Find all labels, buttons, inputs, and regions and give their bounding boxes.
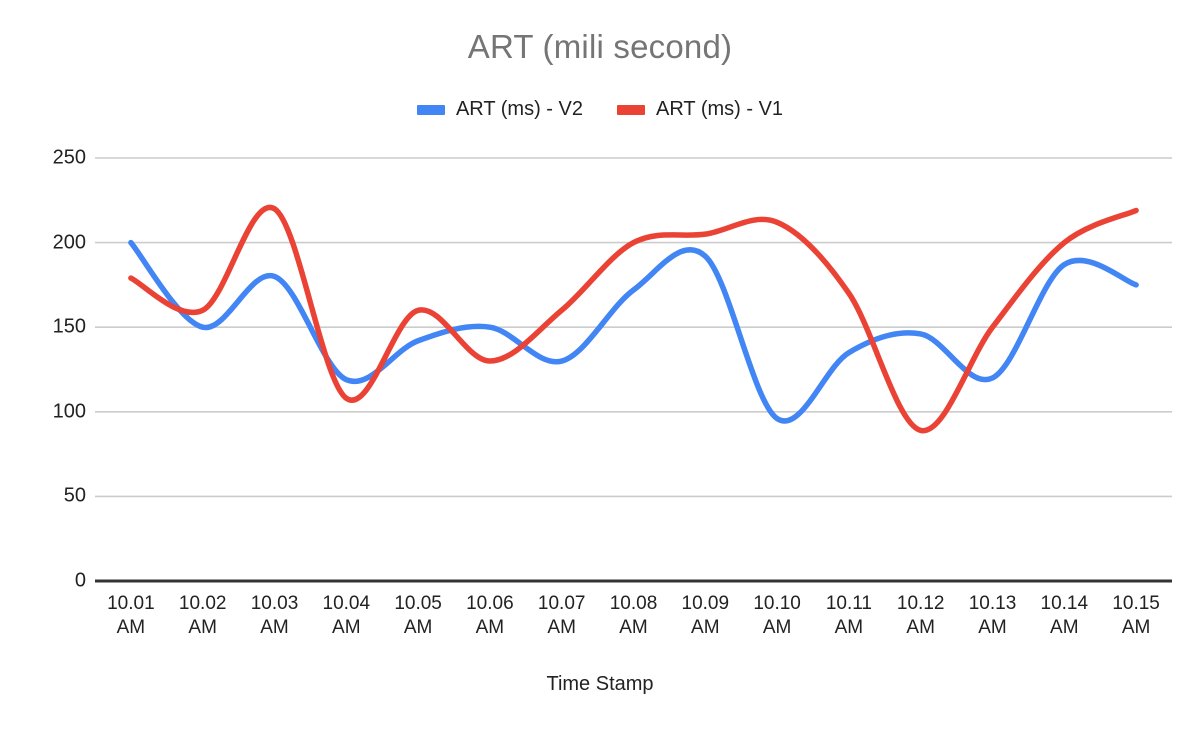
x-axis-tick-label: 10.02AM — [179, 592, 227, 640]
x-tick-time: 10.14 — [1041, 593, 1089, 614]
x-tick-meridiem: AM — [763, 617, 792, 638]
x-axis-tick-label: 10.08AM — [610, 592, 658, 640]
x-axis-tick-label: 10.11AM — [826, 592, 872, 640]
x-tick-time: 10.02 — [179, 593, 227, 614]
x-tick-meridiem: AM — [547, 617, 576, 638]
x-tick-time: 10.13 — [969, 593, 1017, 614]
x-tick-time: 10.08 — [610, 593, 658, 614]
x-tick-meridiem: AM — [691, 617, 720, 638]
x-tick-time: 10.04 — [323, 593, 371, 614]
x-tick-meridiem: AM — [1122, 617, 1151, 638]
x-tick-meridiem: AM — [1050, 617, 1079, 638]
x-tick-meridiem: AM — [188, 617, 217, 638]
x-axis-tick-label: 10.10AM — [753, 592, 801, 640]
x-axis-tick-label: 10.05AM — [394, 592, 442, 640]
x-tick-time: 10.06 — [466, 593, 514, 614]
x-tick-meridiem: AM — [332, 617, 361, 638]
x-tick-time: 10.11 — [826, 593, 872, 614]
x-axis-tick-label: 10.06AM — [466, 592, 514, 640]
x-axis-tick-label: 10.01AM — [107, 592, 155, 640]
x-axis-tick-label: 10.15AM — [1112, 592, 1160, 640]
x-axis-title: Time Stamp — [0, 673, 1200, 696]
x-tick-time: 10.05 — [394, 593, 442, 614]
x-tick-time: 10.12 — [897, 593, 945, 614]
x-tick-time: 10.09 — [682, 593, 730, 614]
x-axis-tick-label: 10.12AM — [897, 592, 945, 640]
x-tick-time: 10.15 — [1112, 593, 1160, 614]
x-axis-tick-label: 10.14AM — [1041, 592, 1089, 640]
x-axis-tick-label: 10.07AM — [538, 592, 586, 640]
x-tick-meridiem: AM — [260, 617, 289, 638]
x-tick-meridiem: AM — [978, 617, 1007, 638]
x-tick-meridiem: AM — [619, 617, 648, 638]
x-axis-tick-label: 10.09AM — [682, 592, 730, 640]
x-tick-meridiem: AM — [117, 617, 146, 638]
x-axis-tick-label: 10.04AM — [323, 592, 371, 640]
x-tick-time: 10.10 — [753, 593, 801, 614]
x-tick-time: 10.01 — [107, 593, 155, 614]
x-tick-meridiem: AM — [404, 617, 433, 638]
series-line-v1 — [131, 207, 1136, 430]
x-tick-time: 10.03 — [251, 593, 299, 614]
x-tick-meridiem: AM — [906, 617, 935, 638]
x-tick-meridiem: AM — [476, 617, 505, 638]
x-axis-tick-label: 10.13AM — [969, 592, 1017, 640]
x-tick-meridiem: AM — [835, 617, 864, 638]
x-axis-tick-label: 10.03AM — [251, 592, 299, 640]
x-tick-time: 10.07 — [538, 593, 586, 614]
chart-container: ART (mili second) ART (ms) - V2 ART (ms)… — [0, 0, 1200, 742]
series-line-v2 — [131, 243, 1136, 421]
